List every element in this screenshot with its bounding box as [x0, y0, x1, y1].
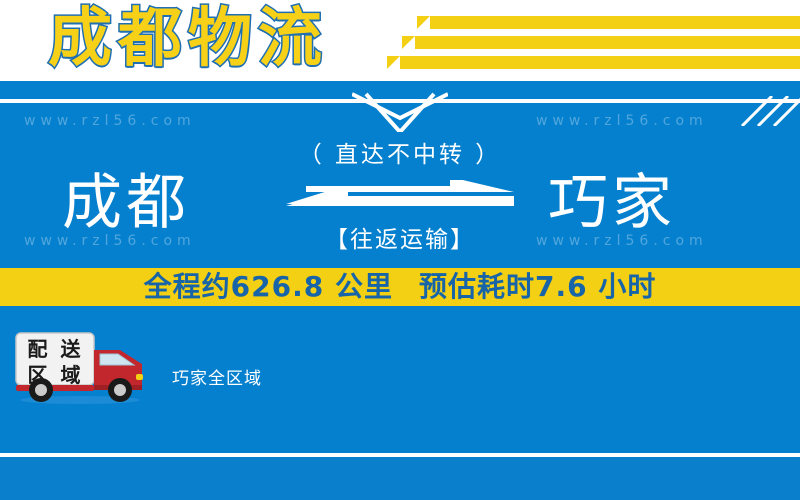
logistics-banner: 成都物流 www.rzl56.com www.rzl56.com www.rzl… [0, 0, 800, 500]
duration-value: 预估耗时7.6 小时 [419, 270, 656, 303]
metric-band: 全程约626.8 公里预估耗时7.6 小时 [0, 268, 800, 306]
watermark: www.rzl56.com [24, 113, 196, 129]
cargo-char-1: 配 [21, 336, 54, 362]
round-trip-note: 【往返运输】 [0, 225, 800, 255]
corner-slash-decor [738, 96, 800, 126]
truck-cargo-label: 配 送 区 域 [21, 336, 87, 388]
decor-stripe-3 [400, 56, 800, 69]
decor-stripe-2 [415, 36, 800, 49]
page-title: 成都物流 [48, 0, 328, 80]
direct-shipping-note: （ 直达不中转 ） [0, 140, 800, 170]
distance-value: 全程约626.8 公里 [144, 270, 393, 303]
double-arrow-left-right-icon [286, 180, 514, 222]
address-bar: 公司地址：四川省成都市新都区三河场元贞国际 [0, 457, 800, 500]
watermark: www.rzl56.com [536, 113, 708, 129]
decor-stripe-1 [430, 16, 800, 29]
cargo-char-2: 送 [54, 336, 87, 362]
cargo-char-4: 域 [54, 362, 87, 388]
header-zone: 成都物流 [0, 0, 800, 81]
cargo-char-3: 区 [21, 362, 54, 388]
double-chevron-down-icon [352, 92, 448, 132]
coverage-area-label: 巧家全区域 [172, 368, 262, 390]
metric-row: 全程约626.8 公里预估耗时7.6 小时 [144, 268, 657, 306]
